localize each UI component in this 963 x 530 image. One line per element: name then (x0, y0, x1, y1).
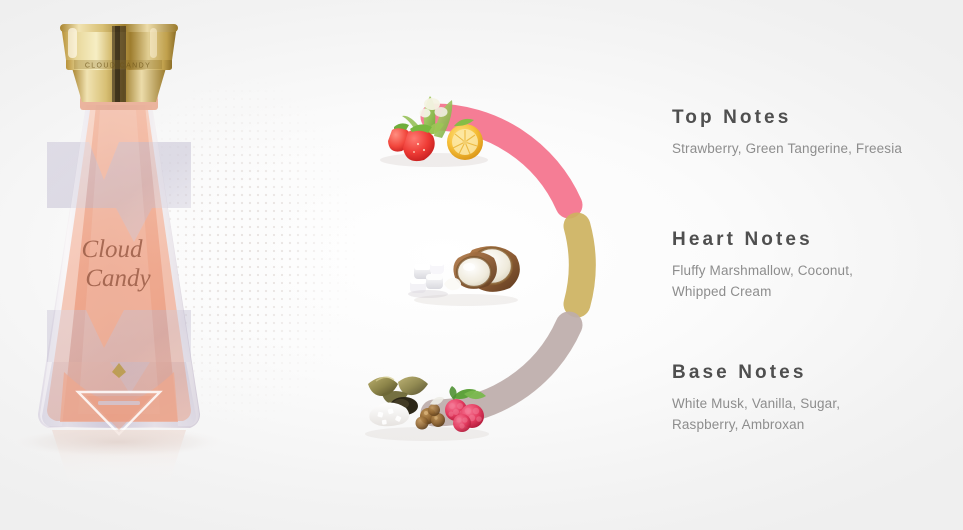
base-notes-title: Base Notes (672, 363, 963, 384)
svg-text:CLOUD CANDY: CLOUD CANDY (85, 63, 151, 70)
perfume-bottle: Cloud Candy CLOUD CANDY (0, 10, 240, 510)
heart-notes-line-2: Whipped Cream (672, 281, 963, 302)
heart-notes-title: Heart Notes (672, 230, 963, 251)
heart-notes-description: Fluffy Marshmallow, Coconut, Whipped Cre… (672, 260, 963, 303)
ingredients-top-notes (368, 86, 500, 170)
top-notes-title: Top Notes (672, 108, 963, 129)
ingredients-heart-notes (400, 230, 532, 310)
ingredients-base-notes (352, 360, 502, 444)
notes-text-column: Top Notes Strawberry, Green Tangerine, F… (672, 0, 962, 530)
fragrance-notes-infographic: Cloud Candy CLOUD CANDY (0, 0, 963, 530)
top-notes-line-1: Strawberry, Green Tangerine, Freesia (672, 138, 963, 159)
heart-notes-line-1: Fluffy Marshmallow, Coconut, (672, 260, 963, 281)
note-block-base: Base Notes White Musk, Vanilla, Sugar, R… (672, 363, 963, 436)
note-block-heart: Heart Notes Fluffy Marshmallow, Coconut,… (672, 230, 963, 303)
raspberry-cluster (445, 386, 486, 432)
note-block-top: Top Notes Strawberry, Green Tangerine, F… (672, 108, 963, 159)
base-notes-description: White Musk, Vanilla, Sugar, Raspberry, A… (672, 393, 963, 436)
base-notes-line-2: Raspberry, Ambroxan (672, 414, 963, 435)
bottle-brand-line-1: Cloud (81, 236, 143, 263)
top-notes-description: Strawberry, Green Tangerine, Freesia (672, 138, 963, 159)
bottle-illustration: Cloud Candy CLOUD CANDY (0, 10, 240, 510)
bottle-brand-line-2: Candy (85, 265, 151, 292)
arc-heart-notes (577, 226, 582, 304)
base-notes-line-1: White Musk, Vanilla, Sugar, (672, 393, 963, 414)
